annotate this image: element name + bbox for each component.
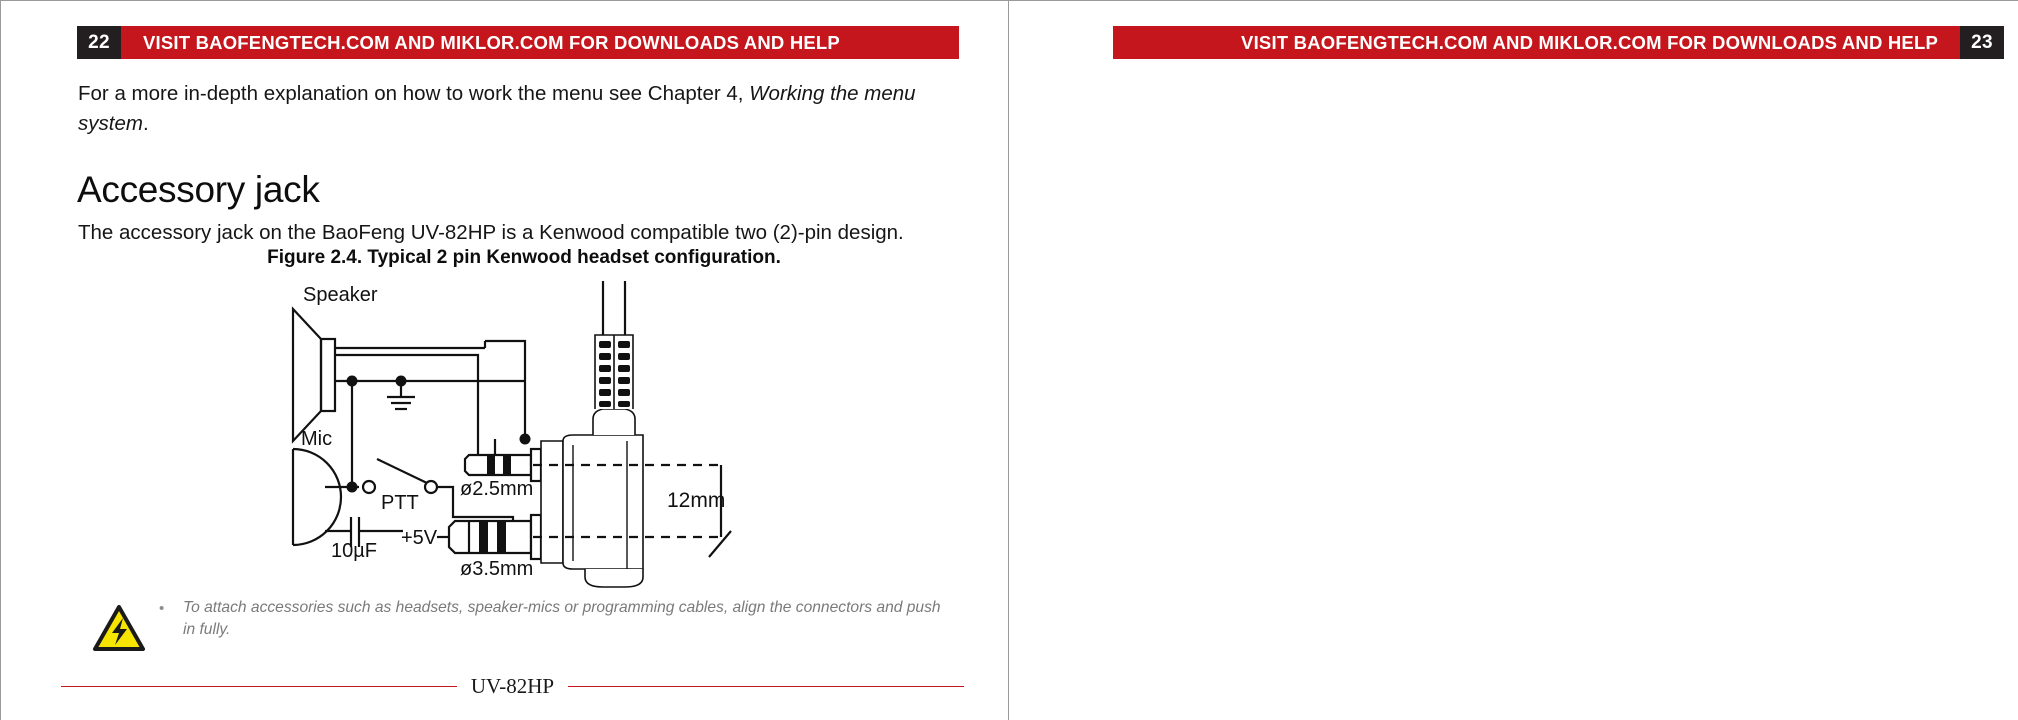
ptt-label: PTT: [381, 492, 419, 514]
bullet-glyph: •: [159, 597, 183, 620]
plug-3-5mm: [449, 515, 541, 559]
footer-rule-right: [568, 686, 964, 687]
footer-rule-left: [61, 686, 457, 687]
ptt-switch: [363, 459, 437, 493]
intro-paragraph: For a more in-depth explanation on how t…: [78, 79, 938, 139]
note-text: To attach accessories such as headsets, …: [183, 597, 953, 641]
warning-note-block: • To attach accessories such as headsets…: [93, 597, 953, 651]
figure-caption: Figure 2.4. Typical 2 pin Kenwood headse…: [1, 247, 1009, 269]
capacitor-label: 10µF: [331, 540, 377, 562]
running-header-left: 22 VISIT BAOFENGTECH.COM AND MIKLOR.COM …: [77, 26, 959, 59]
plug-3-5mm-label: ø3.5mm: [460, 558, 533, 580]
figure-2-4-wiring-diagram: Speaker: [263, 269, 783, 589]
two-page-spread: 22 VISIT BAOFENGTECH.COM AND MIKLOR.COM …: [0, 0, 2018, 720]
plug-2-5mm: [465, 449, 541, 481]
running-header-text-left: VISIT BAOFENGTECH.COM AND MIKLOR.COM FOR…: [121, 26, 959, 59]
intro-tail: .: [143, 112, 149, 135]
footer-title: UV-82HP: [457, 674, 568, 699]
electric-shock-warning-icon: [93, 605, 145, 651]
dimension-12mm-label: 12mm: [667, 489, 725, 512]
page-footer-left: UV-82HP: [61, 674, 964, 699]
warning-note-list: • To attach accessories such as headsets…: [159, 597, 953, 641]
mic-label: Mic: [301, 428, 332, 450]
running-header-right: VISIT BAOFENGTECH.COM AND MIKLOR.COM FOR…: [1113, 26, 2004, 59]
plug-2-5mm-label: ø2.5mm: [460, 478, 533, 500]
speaker-symbol: [293, 309, 335, 441]
supply-label: +5V: [401, 527, 438, 549]
intro-lead: For a more in-depth explanation on how t…: [78, 82, 749, 105]
page-number-right: 23: [1960, 26, 2004, 59]
page-right: VISIT BAOFENGTECH.COM AND MIKLOR.COM FOR…: [1008, 0, 2018, 720]
speaker-label: Speaker: [303, 284, 378, 306]
page-number-left: 22: [77, 26, 121, 59]
list-item: • To attach accessories such as headsets…: [159, 597, 953, 641]
connector-body: [541, 335, 643, 587]
lede-paragraph: The accessory jack on the BaoFeng UV-82H…: [78, 219, 958, 247]
page-title: Accessory jack: [77, 169, 320, 211]
running-header-text-right: VISIT BAOFENGTECH.COM AND MIKLOR.COM FOR…: [1113, 26, 1960, 59]
page-left: 22 VISIT BAOFENGTECH.COM AND MIKLOR.COM …: [0, 0, 1008, 720]
